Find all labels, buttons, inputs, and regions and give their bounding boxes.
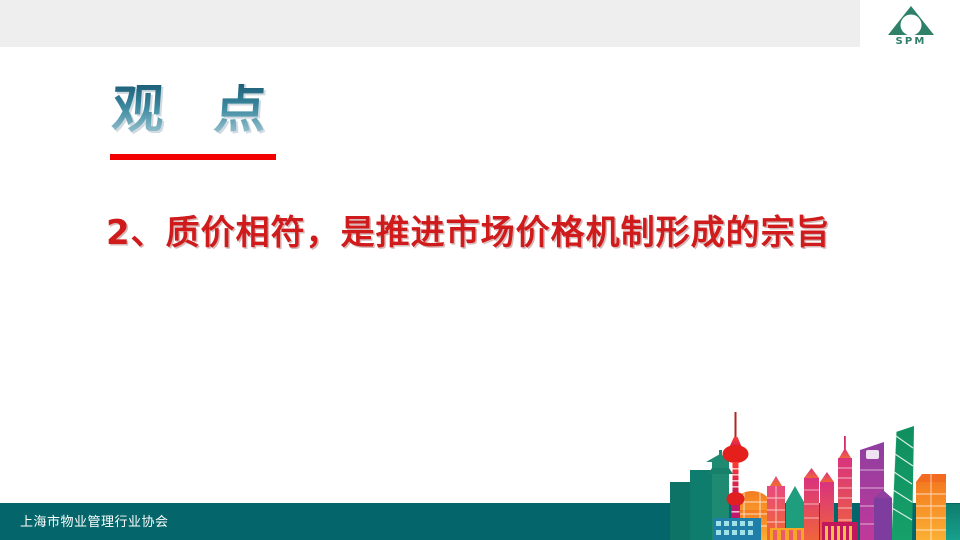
shanghai-tower: [891, 426, 914, 540]
top-bar: [0, 0, 960, 47]
teal-block: [946, 504, 960, 540]
orange-block: [916, 474, 946, 540]
spm-triangle-logo: [888, 6, 934, 36]
purple-mid-block: [874, 490, 892, 540]
svg-text:SPM: SPM: [895, 36, 926, 45]
title-underline-rule: [110, 154, 276, 160]
yellow-base-block: [770, 528, 804, 540]
blue-window-block: [713, 518, 761, 540]
footer-organization-label: 上海市物业管理行业协会: [20, 511, 169, 530]
pink-striped-block: [822, 522, 858, 540]
main-statement: 2、质价相符，是推进市场价格机制形成的宗旨: [106, 212, 926, 255]
pink-tower-a: [804, 468, 819, 540]
shanghai-skyline-illustration: [670, 410, 960, 540]
page-title: 观 点: [110, 84, 284, 136]
spm-logo: SPM: [878, 3, 944, 45]
slide-canvas: SPM 观 点 观 点 2、质价相符，是推进市场价格机制形成的宗旨 上海市物业管…: [0, 0, 960, 540]
